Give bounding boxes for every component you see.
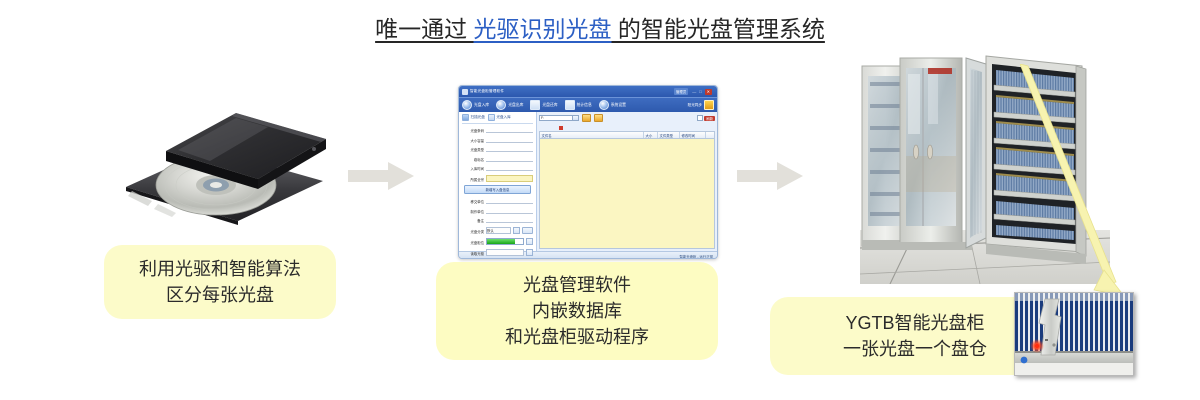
caption-line: 光盘管理软件 — [523, 272, 631, 298]
sync-label: 阳光同步 — [688, 103, 702, 108]
minimize-button[interactable]: — — [692, 89, 696, 95]
toolbar-label: 光盘出库 — [508, 103, 523, 108]
toolbar-button-settings[interactable]: 系统设置 — [599, 100, 626, 110]
title-part-2: 的智能光盘管理系统 — [612, 16, 825, 42]
file-browser-panel: F: 刷新 文件名 大小 文件类型 修改时间 — [537, 112, 717, 251]
drive-select[interactable] — [486, 249, 524, 256]
field-label: 光盘条码 — [462, 128, 484, 133]
stats-icon — [565, 100, 575, 110]
field-cabinet-slot[interactable]: 光盘柜位 — [462, 238, 533, 246]
disc-out-icon — [496, 100, 506, 110]
panel-tabs: 扫描光盘 光盘入库 — [462, 114, 533, 124]
field-intake-time[interactable]: 入库时间 — [462, 165, 533, 171]
tab-scan-disc[interactable]: 扫描光盘 — [462, 114, 485, 121]
field-input[interactable] — [486, 208, 533, 214]
field-input[interactable] — [486, 156, 533, 162]
caption-line: 利用光驱和智能算法 — [139, 256, 301, 282]
field-label: 制作单位 — [462, 209, 484, 214]
folder-up-icon[interactable] — [582, 114, 591, 122]
slot-progress-bar — [486, 238, 524, 246]
toolbar-button-disc-out[interactable]: 光盘出库 — [496, 100, 523, 110]
file-list-body[interactable] — [539, 138, 715, 249]
right-arrow-icon — [737, 162, 803, 190]
sync-button[interactable]: 阳光同步 — [688, 100, 714, 110]
path-toolbar: F: 刷新 — [539, 114, 715, 122]
status-text: 智能光盘柜 - 运行正常 — [679, 254, 713, 259]
tab-label: 扫描光盘 — [471, 115, 485, 120]
field-remark[interactable]: 备注 — [462, 217, 533, 223]
drive-path-value: F: — [541, 116, 544, 120]
optical-drive-image — [118, 105, 333, 225]
caption-box-drive: 利用光驱和智能算法 区分每张光盘 — [104, 245, 336, 319]
field-transfer-unit[interactable]: 移交单位 — [462, 198, 533, 204]
caption-line: YGTB智能光盘柜 — [845, 310, 984, 336]
refresh-button[interactable]: 刷新 — [704, 116, 715, 121]
user-badge: 管理员 — [674, 88, 688, 95]
tab-label: 光盘入库 — [496, 115, 510, 120]
title-highlight: 光驱识别光盘 — [474, 16, 612, 42]
toolbar-label: 光盘还库 — [542, 103, 557, 108]
field-input[interactable] — [486, 146, 533, 152]
toolbar-button-stats[interactable]: 统计信息 — [565, 100, 592, 110]
field-label: 入库时间 — [462, 166, 484, 171]
field-input[interactable] — [486, 165, 533, 171]
field-label: 读取光驱 — [462, 251, 484, 256]
field-label: 大小容量 — [462, 138, 484, 143]
field-label: 光盘分类 — [462, 229, 484, 234]
sync-icon — [704, 100, 714, 110]
refresh-control[interactable]: 刷新 — [697, 115, 715, 121]
field-capacity[interactable]: 大小容量 — [462, 137, 533, 143]
field-input[interactable] — [486, 198, 533, 204]
field-input-highlighted[interactable] — [486, 175, 533, 182]
caption-line: 内嵌数据库 — [532, 298, 622, 324]
caption-line: 和光盘柜驱动程序 — [505, 324, 649, 350]
new-category-button[interactable] — [522, 227, 533, 235]
maximize-button[interactable]: □ — [699, 89, 701, 95]
chevron-down-icon[interactable] — [526, 249, 533, 257]
window-body: 扫描光盘 光盘入库 光盘条码 大小容量 光盘类型 卷标名 — [459, 112, 717, 251]
toolbar-button-disc-return[interactable]: 光盘还库 — [530, 100, 557, 110]
progress-fill — [487, 239, 515, 245]
field-volume-label[interactable]: 卷标名 — [462, 156, 533, 162]
drive-path-select[interactable]: F: — [539, 115, 579, 121]
chevron-down-icon[interactable] — [513, 227, 520, 235]
disc-management-software-window: 智能光盘柜管理软件 管理员 — □ ✕ 光盘入库 光盘出库 光盘还库 统计信息 … — [458, 85, 718, 259]
field-disc-barcode[interactable]: 光盘条码 — [462, 127, 533, 133]
title-part-1: 唯一通过 — [375, 16, 473, 42]
field-producer-unit[interactable]: 制作单位 — [462, 208, 533, 214]
field-label: 卷标名 — [462, 157, 484, 162]
slot-stepper[interactable] — [526, 238, 533, 246]
window-controls: — □ ✕ — [692, 89, 712, 95]
disc-slot-closeup-image — [1014, 292, 1134, 376]
caption-line: 一张光盘一个盘仓 — [843, 336, 987, 362]
toolbar-label: 统计信息 — [577, 103, 592, 108]
toolbar-button-disc-in[interactable]: 光盘入库 — [462, 100, 489, 110]
app-icon — [462, 89, 468, 95]
field-fonds[interactable]: 所属全宗 — [462, 175, 533, 182]
gear-icon — [599, 100, 609, 110]
checkbox-icon[interactable] — [697, 115, 703, 121]
field-disc-category[interactable]: 光盘分类 默认 — [462, 227, 533, 235]
window-titlebar: 智能光盘柜管理软件 管理员 — □ ✕ — [459, 86, 717, 97]
field-label: 移交单位 — [462, 199, 484, 204]
field-disc-type[interactable]: 光盘类型 — [462, 146, 533, 152]
caption-line: 区分每张光盘 — [166, 282, 274, 308]
window-title: 智能光盘柜管理软件 — [470, 89, 504, 94]
category-select[interactable]: 默认 — [486, 227, 511, 234]
toolbar-label: 系统设置 — [611, 103, 626, 108]
toolbar-label: 光盘入库 — [474, 103, 489, 108]
caption-box-software: 光盘管理软件 内嵌数据库 和光盘柜驱动程序 — [436, 262, 718, 360]
field-input[interactable] — [486, 217, 533, 223]
page-title: 唯一通过 光驱识别光盘 的智能光盘管理系统 — [0, 14, 1200, 44]
field-input[interactable] — [486, 137, 533, 143]
main-toolbar: 光盘入库 光盘出库 光盘还库 统计信息 系统设置 阳光同步 — [459, 97, 717, 112]
field-input[interactable] — [486, 127, 533, 133]
add-disc-info-button[interactable]: 新增写入盘信息 — [464, 185, 531, 194]
close-button[interactable]: ✕ — [705, 89, 712, 95]
disc-return-icon — [530, 100, 540, 110]
file-list-header: 文件名 大小 文件类型 修改时间 — [539, 131, 715, 138]
status-marker — [559, 126, 563, 130]
disc-cabinet-image — [860, 52, 1110, 284]
disc-in-icon — [462, 100, 472, 110]
field-label: 光盘柜位 — [462, 240, 484, 245]
disc-in-small-icon — [488, 114, 495, 121]
field-label: 备注 — [462, 218, 484, 223]
field-label: 所属全宗 — [462, 177, 484, 182]
field-label: 光盘类型 — [462, 147, 484, 152]
left-form-panel: 扫描光盘 光盘入库 光盘条码 大小容量 光盘类型 卷标名 — [459, 112, 537, 251]
chevron-down-icon[interactable] — [572, 116, 578, 120]
folder-icon[interactable] — [594, 114, 603, 122]
field-read-drive[interactable]: 读取光驱 — [462, 249, 533, 257]
tab-disc-in[interactable]: 光盘入库 — [488, 114, 511, 121]
scan-icon — [462, 114, 469, 121]
right-arrow-icon — [348, 162, 414, 190]
